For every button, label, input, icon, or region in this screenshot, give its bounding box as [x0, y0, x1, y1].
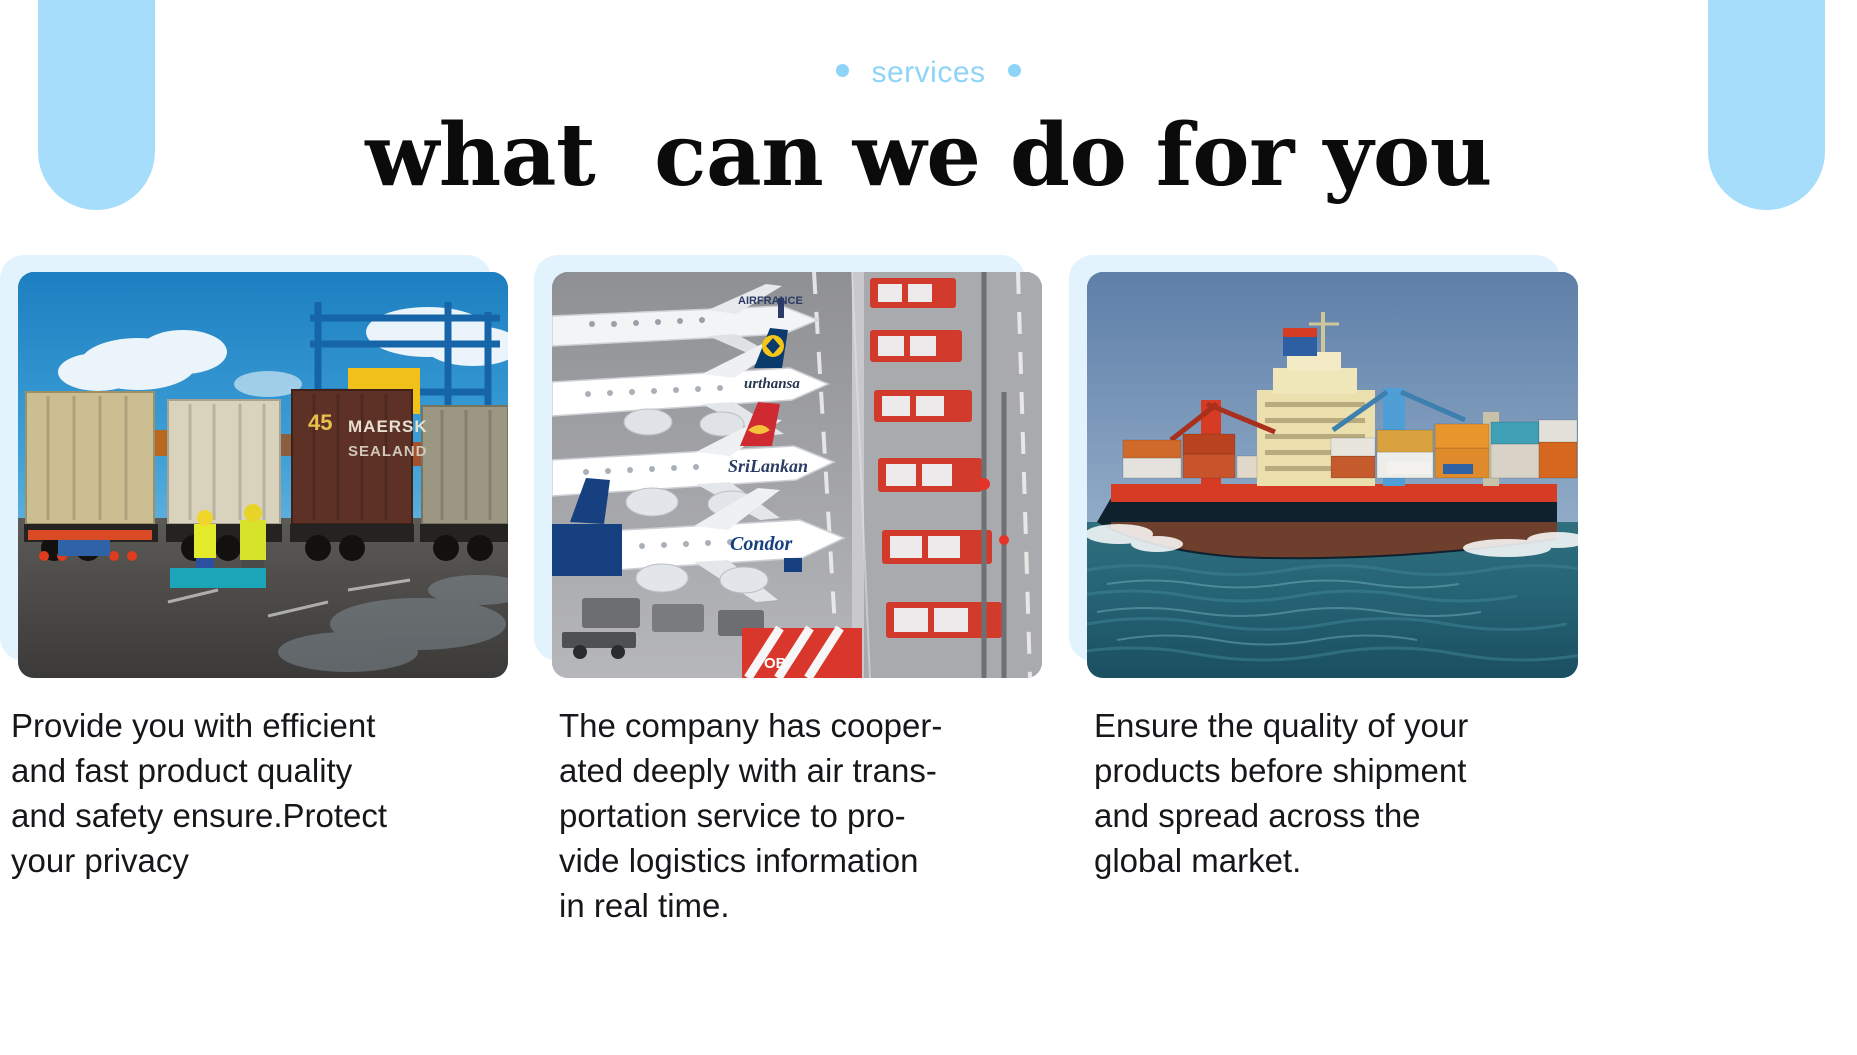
page-title: what can we do for you — [0, 104, 1857, 208]
svg-text:AIRFRANCE: AIRFRANCE — [738, 295, 803, 307]
svg-text:SEALAND: SEALAND — [348, 443, 428, 460]
eyebrow-label: services — [871, 51, 985, 95]
bullet-dot-left-icon — [836, 64, 849, 77]
svg-text:45: 45 — [308, 410, 332, 435]
svg-text:SriLankan: SriLankan — [728, 456, 808, 476]
card-image-container-ship — [1087, 272, 1578, 678]
svg-text:MAERSK: MAERSK — [348, 417, 428, 436]
card-image-port-containers: 45 MAERSK SEALAND — [18, 272, 508, 678]
svg-text:Condor: Condor — [730, 533, 792, 555]
svg-text:OB: OB — [764, 655, 787, 672]
section-eyebrow: services — [0, 50, 1857, 95]
slide-root: services what can we do for you — [0, 0, 1857, 1055]
svg-text:urthansa: urthansa — [744, 376, 800, 392]
card-image-airport-planes: AIRFRANCE — [552, 272, 1042, 678]
card-description: Provide you with efficient and fast prod… — [11, 703, 511, 883]
bullet-dot-right-icon — [1008, 64, 1021, 77]
card-description: Ensure the quality of your products befo… — [1094, 703, 1594, 883]
card-description: The company has cooper- ated deeply with… — [559, 703, 1049, 928]
service-card-row: 45 MAERSK SEALAND — [0, 255, 1857, 1055]
